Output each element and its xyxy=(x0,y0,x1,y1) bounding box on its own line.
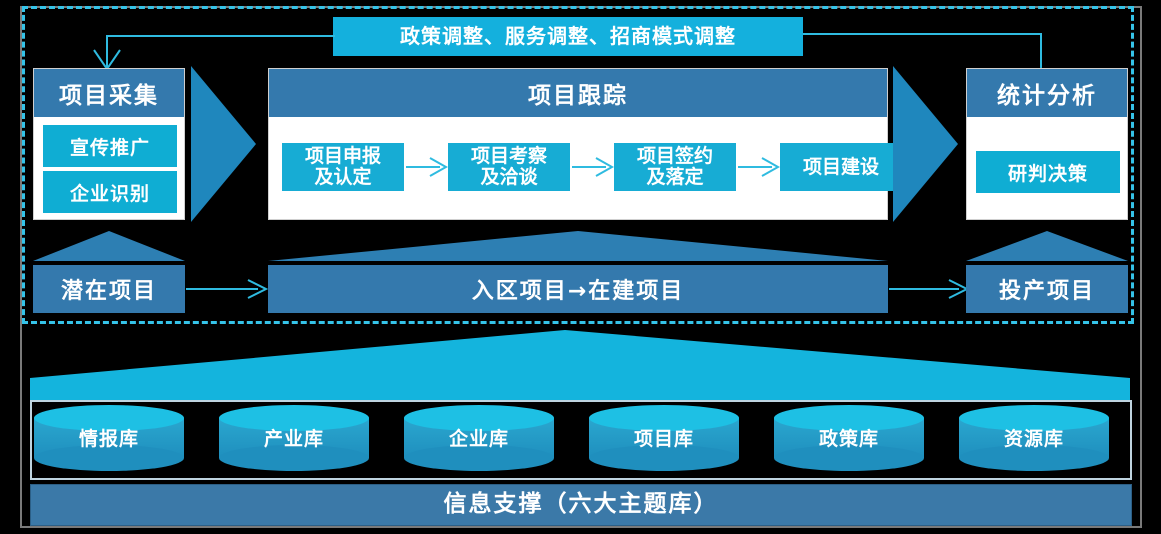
collect-item-promotion[interactable]: 宣传推广 xyxy=(43,125,177,167)
status-potential-project[interactable]: 潜在项目 xyxy=(33,265,185,313)
database-label: 资源库 xyxy=(955,402,1113,472)
analysis-panel-header: 统计分析 xyxy=(967,69,1127,117)
status-potential-project-label: 潜在项目 xyxy=(61,273,157,305)
footer-info-support-bar[interactable]: 信息支撑（六大主题库） xyxy=(30,484,1132,526)
collect-panel-header: 项目采集 xyxy=(34,69,184,117)
tracking-panel[interactable]: 项目跟踪 项目申报 及认定 项目考察 及洽谈 项目签约 及落定 项目建设 xyxy=(268,68,888,220)
database-label: 情报库 xyxy=(30,402,188,472)
tracking-arrow-1-icon xyxy=(406,157,448,177)
upchevron-to-analysis-icon xyxy=(966,231,1128,263)
analysis-item-decision-label: 研判决策 xyxy=(1008,159,1088,186)
feedback-left-line-horizontal xyxy=(107,35,335,37)
arrow-tracking-to-analysis-icon xyxy=(893,66,958,222)
database-label: 企业库 xyxy=(400,402,558,472)
diagram-canvas: 政策调整、服务调整、招商模式调整 项目采集 宣传推广 企业识别 项目跟踪 项目申… xyxy=(0,0,1161,534)
analysis-panel[interactable]: 统计分析 研判决策 xyxy=(966,68,1128,220)
status-production-project-label: 投产项目 xyxy=(999,273,1095,305)
upchevron-to-collect-icon xyxy=(33,231,185,263)
feedback-right-line-horizontal xyxy=(803,33,1041,35)
tracking-arrow-2-icon xyxy=(572,157,614,177)
analysis-item-decision[interactable]: 研判决策 xyxy=(976,151,1120,193)
database-label: 产业库 xyxy=(215,402,373,472)
database-label: 项目库 xyxy=(585,402,743,472)
feedback-banner[interactable]: 政策调整、服务调整、招商模式调整 xyxy=(333,17,803,56)
tracking-step-1-label: 项目申报 及认定 xyxy=(305,146,381,187)
collect-item-promotion-label: 宣传推广 xyxy=(70,133,150,160)
collect-item-identify-label: 企业识别 xyxy=(70,179,150,206)
feedback-right-line-vertical xyxy=(1040,33,1042,68)
collect-panel[interactable]: 项目采集 宣传推广 企业识别 xyxy=(33,68,185,220)
upchevron-to-tracking-icon xyxy=(268,231,888,263)
arrow-potential-to-middle-icon xyxy=(186,279,268,299)
arrow-collect-to-tracking-icon xyxy=(191,66,256,222)
tracking-step-4-label: 项目建设 xyxy=(803,157,879,178)
tracking-arrow-3-icon xyxy=(738,157,780,177)
tracking-step-3-label: 项目签约 及落定 xyxy=(637,146,713,187)
collect-item-identify[interactable]: 企业识别 xyxy=(43,171,177,213)
tracking-step-1[interactable]: 项目申报 及认定 xyxy=(282,143,404,191)
tracking-step-3[interactable]: 项目签约 及落定 xyxy=(614,143,736,191)
arrow-middle-to-production-icon xyxy=(889,279,969,299)
tracking-step-2-label: 项目考察 及洽谈 xyxy=(471,146,547,187)
status-production-project[interactable]: 投产项目 xyxy=(966,265,1128,313)
tracking-step-2[interactable]: 项目考察 及洽谈 xyxy=(448,143,570,191)
status-middle-project[interactable]: 入区项目→在建项目 xyxy=(268,265,888,313)
database-label: 政策库 xyxy=(770,402,928,472)
support-up-arrow-icon xyxy=(30,330,1130,406)
tracking-step-4[interactable]: 项目建设 xyxy=(780,143,902,191)
tracking-panel-header: 项目跟踪 xyxy=(269,69,887,117)
status-middle-project-label: 入区项目→在建项目 xyxy=(472,273,684,305)
